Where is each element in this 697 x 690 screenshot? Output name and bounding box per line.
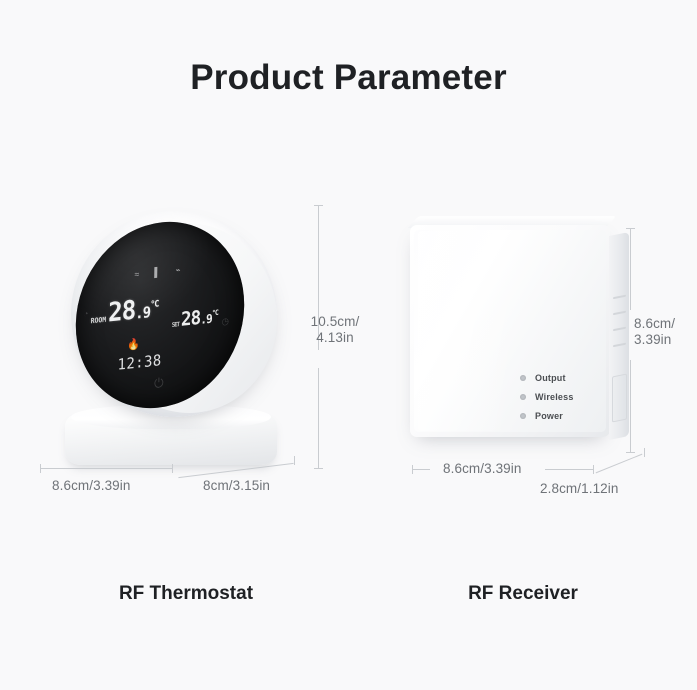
- receiver-vent-slot: [613, 327, 626, 332]
- left-touch-icon[interactable]: ◔: [83, 308, 88, 319]
- room-label: ROOM: [91, 316, 107, 326]
- set-temp-integer: 28: [181, 307, 201, 331]
- receiver-height-label: 8.6cm/ 3.39in: [634, 316, 675, 348]
- room-temp-integer: 28: [108, 295, 136, 328]
- room-temp-unit: °C: [150, 299, 158, 310]
- status-icons: ≈ ▌ ⌁: [76, 258, 245, 287]
- receiver-height-tick-top: [626, 228, 635, 229]
- right-touch-icon[interactable]: ◷: [222, 316, 229, 328]
- led-label: Output: [535, 373, 566, 383]
- receiver-terminal-port: [612, 374, 627, 423]
- receiver-led-indicator-list: Output Wireless Power: [520, 373, 574, 430]
- receiver-body: [410, 225, 610, 437]
- thermostat-width-tick-right: [172, 464, 173, 473]
- led-row: Power: [520, 411, 574, 421]
- set-temperature-reading: SET28.9°C: [172, 305, 218, 332]
- receiver-depth-line: [596, 454, 643, 474]
- thermostat-width-tick-left: [40, 464, 41, 473]
- led-indicator-icon: [520, 394, 526, 400]
- led-label: Power: [535, 411, 563, 421]
- thermostat-display-glass: ≈ ▌ ⌁ ROOM28.9°C SET28.9°C 🔥 12:38 ◔ ◷ ⏻: [74, 213, 246, 416]
- led-indicator-icon: [520, 375, 526, 381]
- receiver-height-line-upper: [630, 228, 631, 310]
- room-temperature-reading: ROOM28.9°C: [90, 293, 158, 330]
- thermostat-height-line-lower: [318, 368, 319, 468]
- receiver-vent-slot: [613, 311, 626, 316]
- receiver-vent-slot: [613, 295, 626, 300]
- thermostat-product-figure: ≈ ▌ ⌁ ROOM28.9°C SET28.9°C 🔥 12:38 ◔ ◷ ⏻: [55, 205, 285, 470]
- set-temp-unit: °C: [212, 309, 218, 318]
- room-temp-fraction: .9: [135, 303, 150, 323]
- led-row: Output: [520, 373, 574, 383]
- thermostat-width-line: [40, 468, 172, 469]
- receiver-height-line-lower: [630, 360, 631, 452]
- receiver-caption: RF Receiver: [392, 583, 654, 605]
- receiver-depth-label: 2.8cm/1.12in: [540, 481, 619, 497]
- receiver-width-line-left: [412, 469, 430, 470]
- led-row: Wireless: [520, 392, 574, 402]
- set-label: SET: [172, 321, 179, 329]
- receiver-depth-tick: [644, 448, 645, 457]
- led-indicator-icon: [520, 413, 526, 419]
- thermostat-height-tick-bottom: [314, 468, 323, 469]
- receiver-width-label: 8.6cm/3.39in: [443, 461, 522, 477]
- receiver-vent-slot: [613, 343, 626, 348]
- thermostat-height-label: 10.5cm/ 4.13in: [296, 314, 374, 346]
- set-temp-fraction: .9: [200, 312, 212, 327]
- receiver-width-tick-right: [593, 465, 594, 474]
- led-label: Wireless: [535, 392, 574, 402]
- receiver-height-tick-bottom: [626, 452, 635, 453]
- receiver-width-tick-left: [412, 465, 413, 474]
- receiver-width-line-right: [545, 469, 593, 470]
- thermostat-width-label: 8.6cm/3.39in: [52, 478, 131, 494]
- thermostat-caption: RF Thermostat: [55, 583, 317, 605]
- page-title: Product Parameter: [0, 58, 697, 98]
- thermostat-depth-label: 8cm/3.15in: [203, 478, 270, 494]
- thermostat-depth-tick-right: [294, 456, 295, 465]
- power-icon[interactable]: ⏻: [74, 367, 243, 401]
- clock-display: 12:38: [117, 351, 161, 374]
- thermostat-height-tick-top: [314, 205, 323, 206]
- flame-icon: 🔥: [127, 337, 140, 351]
- receiver-gloss-highlight: [418, 231, 514, 431]
- thermostat-screen: ≈ ▌ ⌁ ROOM28.9°C SET28.9°C 🔥 12:38 ◔ ◷ ⏻: [74, 213, 246, 416]
- receiver-product-figure: Output Wireless Power: [410, 225, 635, 450]
